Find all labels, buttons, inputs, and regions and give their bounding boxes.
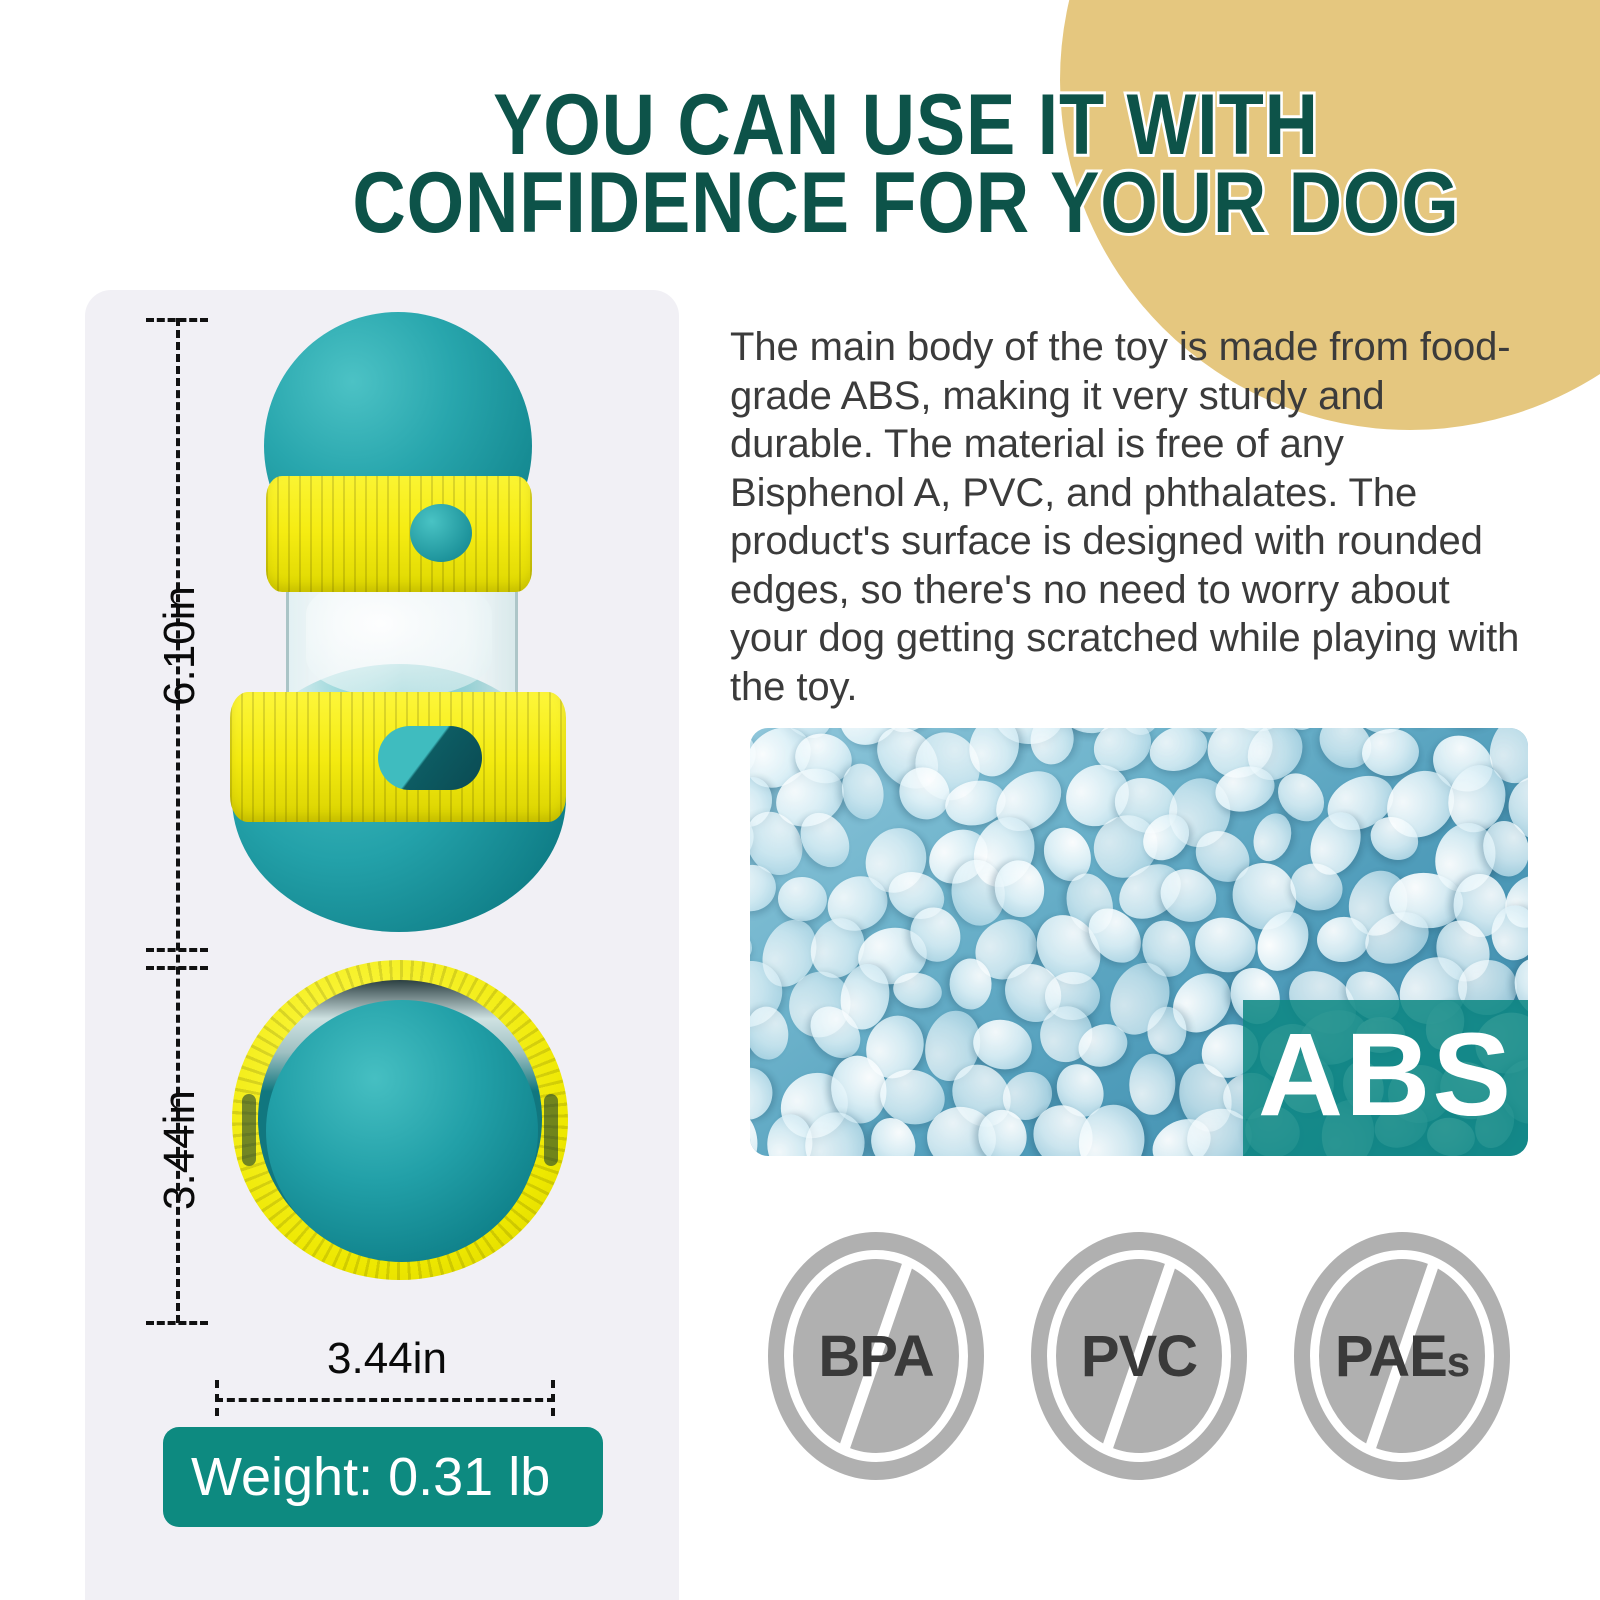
horizontal-dimension-line	[215, 1398, 555, 1402]
dimension-tick-bottom	[146, 1321, 208, 1325]
toy-upper-yellow-band	[266, 476, 532, 592]
toy-notch-right	[544, 1094, 558, 1166]
dimension-tick-middle-lower	[146, 966, 208, 970]
toy-clear-waist-highlight	[306, 574, 492, 698]
badge-label: BPA	[818, 1323, 933, 1390]
toy-dome	[266, 1000, 538, 1262]
dimension-label-ball-height: 3.44in	[155, 1090, 205, 1210]
toy-treat-slot	[378, 726, 482, 790]
product-image-side-view	[228, 312, 570, 932]
dimension-tick-top	[146, 318, 208, 322]
dimension-label-width: 3.44in	[215, 1334, 559, 1384]
product-image-bottom-view	[232, 960, 568, 1280]
weight-badge: Weight: 0.31 lb	[163, 1427, 603, 1527]
toy-button-dot	[410, 504, 472, 562]
toy-notch-left	[242, 1094, 256, 1166]
dimension-cap-left	[215, 1380, 219, 1416]
abs-material-photo: ABS	[750, 728, 1528, 1156]
description-paragraph: The main body of the toy is made from fo…	[730, 323, 1520, 711]
abs-label-text: ABS	[1258, 1016, 1513, 1134]
dimension-tick-middle-upper	[146, 948, 208, 952]
no-bpa-badge: BPA	[768, 1232, 984, 1480]
dimension-cap-right	[551, 1380, 555, 1416]
no-paes-badge: PAEs	[1294, 1232, 1510, 1480]
page-title: YOU CAN USE IT WITH CONFIDENCE FOR YOUR …	[330, 86, 1482, 242]
dimension-label-total-height: 6.10in	[155, 586, 205, 706]
badge-label: PVC	[1081, 1323, 1197, 1390]
free-of-badge-group: BPA PVC PAEs	[768, 1232, 1510, 1480]
abs-label-overlay: ABS	[1243, 1000, 1528, 1156]
badge-label: PAEs	[1335, 1323, 1469, 1390]
infographic-canvas: YOU CAN USE IT WITH CONFIDENCE FOR YOUR …	[0, 0, 1600, 1600]
no-pvc-badge: PVC	[1031, 1232, 1247, 1480]
